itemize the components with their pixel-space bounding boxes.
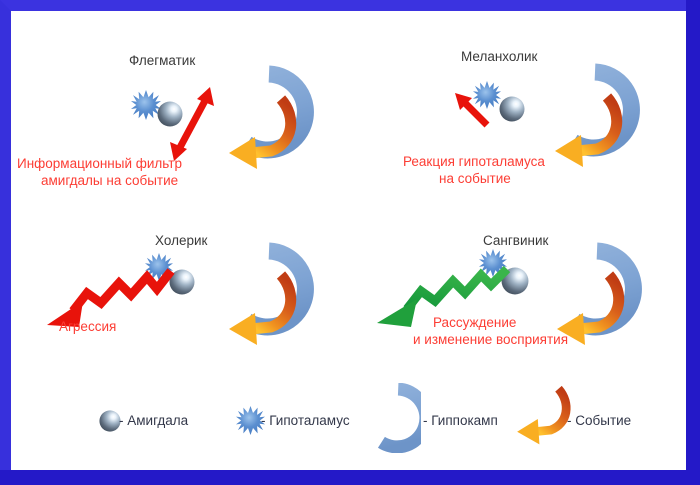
orange-arrow-icon (209, 269, 309, 347)
legend-item-hippocampus (351, 383, 421, 458)
group-caption-phlegmatic-line2: амигдалы на событие (41, 173, 178, 189)
legend-label-amygdala: - Амигдала (119, 413, 188, 428)
group-melancholic: Меланхолик (341, 11, 686, 191)
frame-border-left (0, 0, 11, 485)
orange-arrow-icon (535, 91, 635, 169)
diagram-stage: Флегматик (11, 11, 686, 470)
group-caption-melancholic-line1: Реакция гипоталамуса (403, 154, 545, 170)
legend-label-hypothalamus: - Гипоталамус (261, 413, 350, 428)
group-label-phlegmatic: Флегматик (129, 53, 195, 68)
group-caption-phlegmatic-line1: Информационный фильтр (17, 156, 182, 172)
group-choleric: Холерик (11, 191, 341, 366)
group-label-melancholic: Меланхолик (461, 49, 537, 64)
group-label-choleric: Холерик (155, 233, 207, 248)
short-arrow-red-icon (449, 91, 497, 133)
frame-bevel-top-left (0, 0, 11, 11)
double-arrow-red-icon (163, 83, 223, 163)
frame-border-top (0, 0, 700, 11)
diagram-canvas: Флегматик (0, 0, 700, 485)
group-caption-sanguine-line1: Рассуждение (433, 315, 516, 331)
orange-arrow-icon (209, 93, 309, 171)
legend-item-amygdala (99, 410, 121, 437)
sphere-icon (499, 96, 525, 122)
frame-border-right (686, 0, 700, 485)
group-caption-melancholic-line2: на событие (439, 171, 511, 187)
legend: - Амигдала - Гипоталамус - Гиппокамп (11, 366, 686, 466)
blue-arc-icon (351, 383, 421, 453)
group-sanguine: Сангвиник (341, 191, 686, 366)
group-phlegmatic: Флегматик (11, 11, 341, 191)
group-caption-sanguine-line2: и изменение восприятия (413, 332, 568, 348)
frame-border-bottom (0, 470, 700, 485)
legend-label-event: - Событие (567, 413, 631, 428)
legend-label-hippocampus: - Гиппокамп (423, 413, 498, 428)
group-caption-choleric-line1: Агрессия (59, 319, 116, 335)
sphere-icon (99, 410, 121, 432)
